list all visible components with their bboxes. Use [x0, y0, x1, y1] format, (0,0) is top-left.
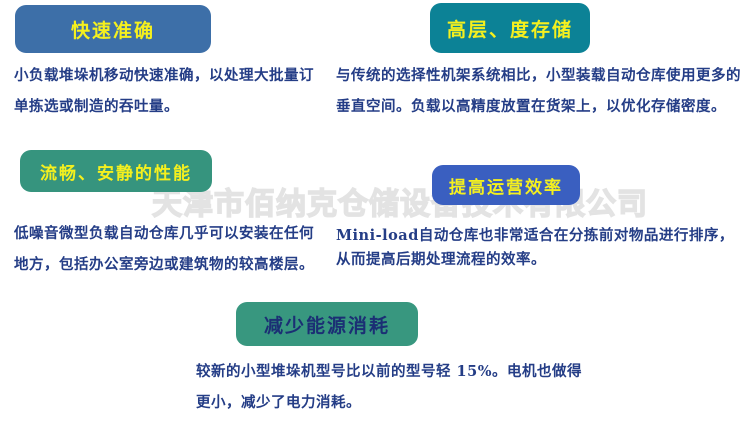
paragraph-fast-accurate: 小负载堆垛机移动快速准确，以处理大批量订单拣选或制造的吞吐量。: [14, 60, 314, 122]
badge-smooth-quiet-performance: 流畅、安静的性能: [20, 150, 212, 192]
paragraph-reduce-energy-consumption: 较新的小型堆垛机型号比以前的型号轻 15%。电机也做得更小，减少了电力消耗。: [196, 356, 596, 418]
feature-poster: 天津市佰纳克仓储设备技术有限公司 快速准确 小负载堆垛机移动快速准确，以处理大批…: [0, 0, 750, 431]
paragraph-improve-operating-efficiency: Mini-load自动仓库也非常适合在分拣前对物品进行排序，从而提高后期处理流程…: [336, 224, 748, 272]
badge-fast-accurate: 快速准确: [15, 5, 211, 53]
paragraph-smooth-quiet-performance: 低噪音微型负载自动仓库几乎可以安装在任何地方，包括办公室旁边或建筑物的较高楼层。: [14, 218, 314, 280]
badge-reduce-energy-consumption: 减少能源消耗: [236, 302, 418, 346]
badge-improve-operating-efficiency: 提高运营效率: [432, 165, 580, 205]
badge-high-level-storage: 高层、度存储: [430, 3, 590, 53]
paragraph-high-level-storage: 与传统的选择性机架系统相比，小型装载自动仓库使用更多的垂直空间。负载以高精度放置…: [336, 60, 748, 122]
